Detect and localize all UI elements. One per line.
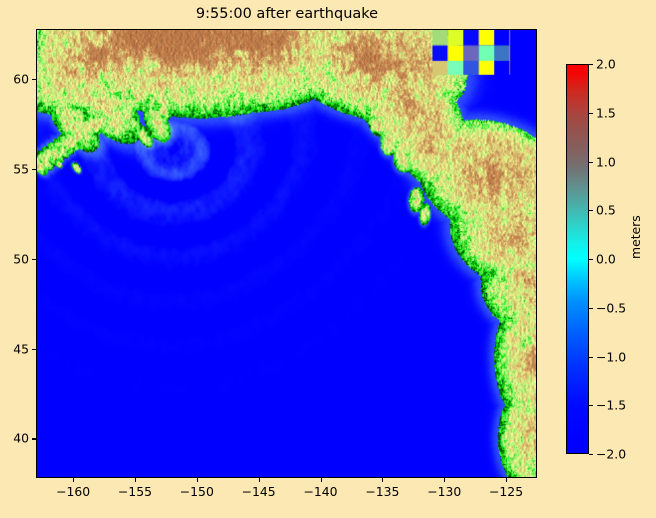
x-axis-ticklabel: −140 xyxy=(303,484,337,499)
colorbar-tick xyxy=(589,357,593,358)
colorbar-ticklabel: 0.0 xyxy=(596,252,616,267)
map-plot-area[interactable] xyxy=(36,29,537,478)
x-axis-tick xyxy=(382,478,383,482)
colorbar-ticklabel: 1.0 xyxy=(596,154,616,169)
colorbar-tick xyxy=(589,113,593,114)
x-axis-tick xyxy=(259,478,260,482)
colorbar-tick xyxy=(589,64,593,65)
x-axis-ticklabel: −145 xyxy=(242,484,276,499)
x-axis-tick xyxy=(321,478,322,482)
x-axis-ticklabel: −155 xyxy=(118,484,152,499)
colorbar-ticklabel: 2.0 xyxy=(596,57,616,72)
y-axis-ticklabel: 55 xyxy=(0,162,29,177)
colorbar-label: meters xyxy=(628,215,643,259)
y-axis-tick xyxy=(32,438,36,439)
x-axis-ticklabel: −130 xyxy=(427,484,461,499)
colorbar-tick xyxy=(589,210,593,211)
colorbar-tick xyxy=(589,308,593,309)
x-axis-tick xyxy=(197,478,198,482)
matplotlib-figure: 9:55:00 after earthquake −160−155−150−14… xyxy=(0,0,656,518)
colorbar-ticklabel: −1.5 xyxy=(596,398,626,413)
y-axis-tick xyxy=(32,259,36,260)
x-axis-ticklabel: −135 xyxy=(365,484,399,499)
colorbar[interactable] xyxy=(566,64,589,454)
y-axis-tick xyxy=(32,169,36,170)
y-axis-ticklabel: 60 xyxy=(0,72,29,87)
y-axis-tick xyxy=(32,349,36,350)
colorbar-ticklabel: −0.5 xyxy=(596,300,626,315)
x-axis-tick xyxy=(506,478,507,482)
colorbar-ticklabel: −1.0 xyxy=(596,349,626,364)
x-axis-ticklabel: −150 xyxy=(180,484,214,499)
colorbar-tick xyxy=(589,405,593,406)
colorbar-tick xyxy=(589,259,593,260)
x-axis-ticklabel: −160 xyxy=(56,484,90,499)
colorbar-ticklabel: 0.5 xyxy=(596,203,616,218)
colorbar-tick xyxy=(589,162,593,163)
topography-bathymetry-raster xyxy=(37,30,536,477)
y-axis-ticklabel: 40 xyxy=(0,431,29,446)
page-title: 9:55:00 after earthquake xyxy=(36,4,538,24)
x-axis-tick xyxy=(444,478,445,482)
x-axis-tick xyxy=(73,478,74,482)
colorbar-tick xyxy=(589,454,593,455)
colorbar-ticklabel: −2.0 xyxy=(596,447,626,462)
x-axis-ticklabel: −125 xyxy=(489,484,523,499)
x-axis-tick xyxy=(135,478,136,482)
y-axis-ticklabel: 50 xyxy=(0,251,29,266)
y-axis-ticklabel: 45 xyxy=(0,341,29,356)
colorbar-ticklabel: 1.5 xyxy=(596,105,616,120)
y-axis-tick xyxy=(32,79,36,80)
